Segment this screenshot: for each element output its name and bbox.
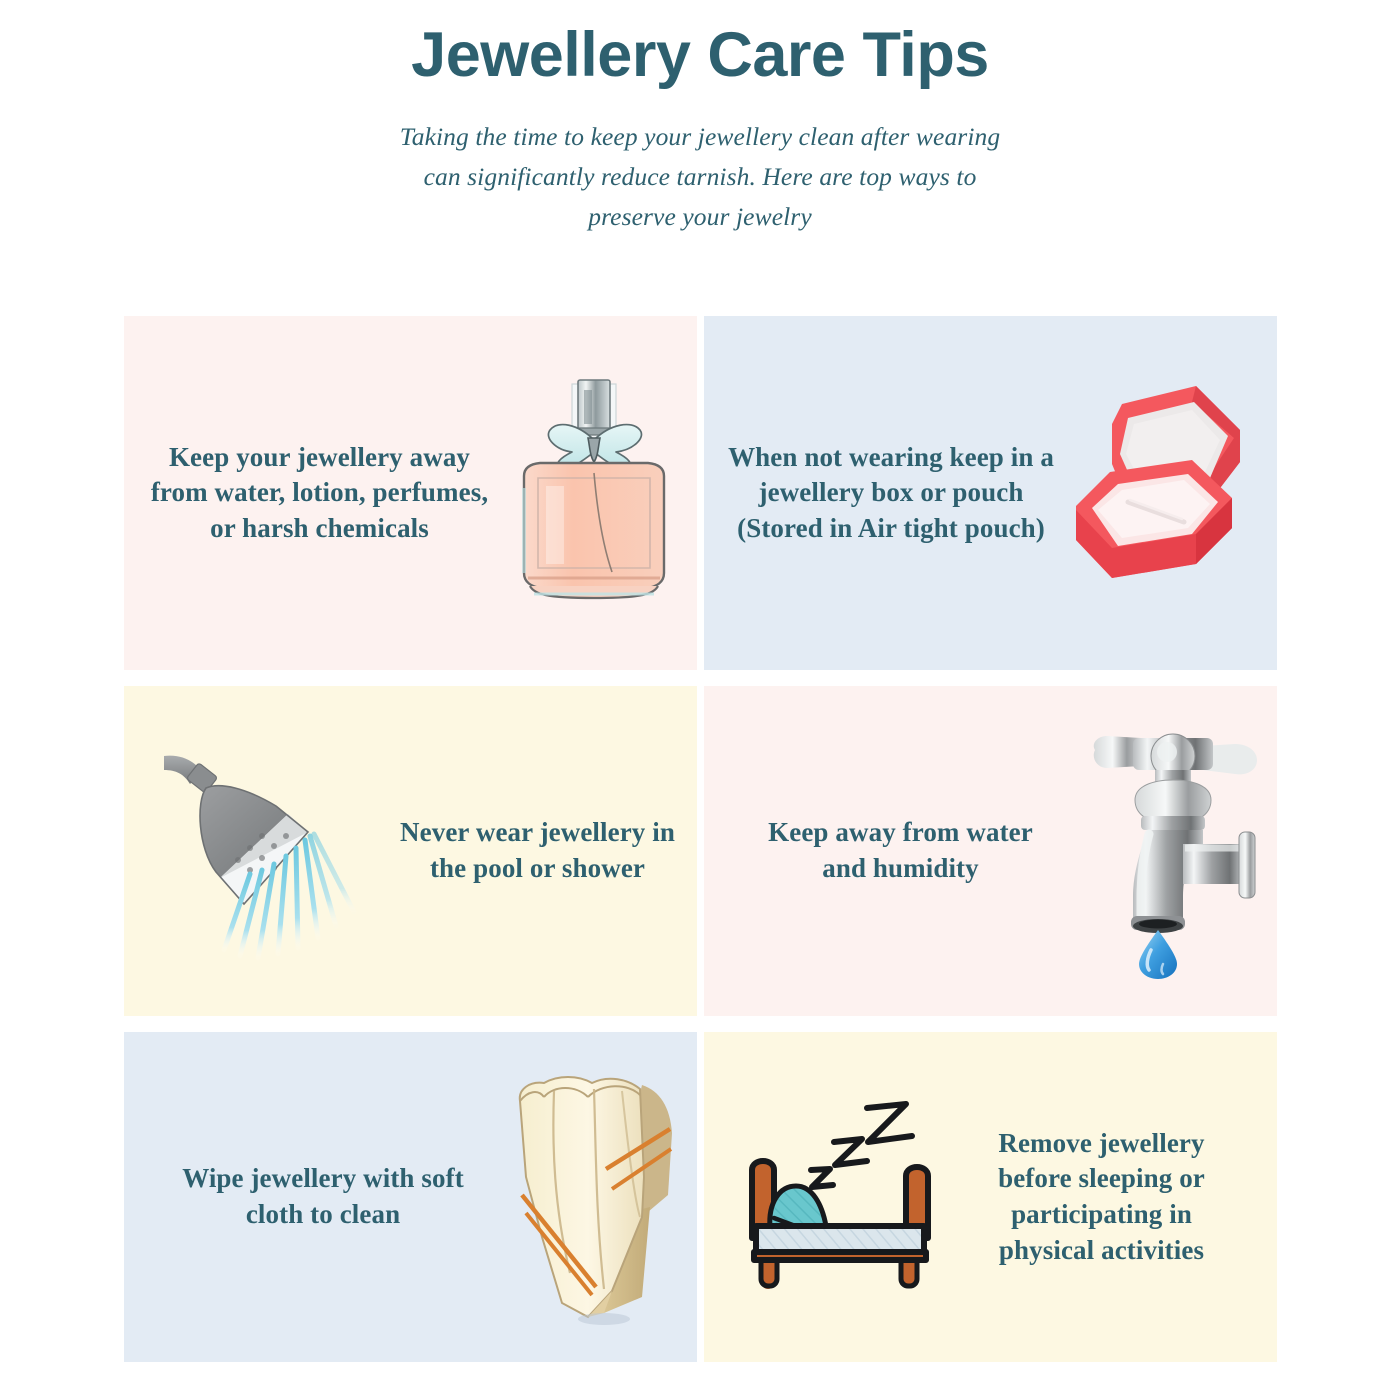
- card-cloth: Wipe jewellery with soft cloth to clean: [124, 1032, 697, 1362]
- faucet-icon: [1067, 726, 1277, 976]
- card-faucet-text: Keep away from water and humidity: [762, 815, 1039, 886]
- card-perfume-text: Keep your jewellery away from water, lot…: [147, 440, 492, 547]
- cleaning-cloth-icon: [492, 1067, 697, 1327]
- ring-box-icon: [1064, 378, 1274, 608]
- shower-head-icon: [158, 736, 388, 966]
- bed-sleep-icon: [734, 1092, 964, 1302]
- page-subtitle: Taking the time to keep your jewellery c…: [380, 117, 1020, 236]
- header: Jewellery Care Tips Taking the time to k…: [0, 0, 1400, 236]
- card-bed-text: Remove jewellery before sleeping or part…: [964, 1126, 1239, 1269]
- card-jewellery-box-text: When not wearing keep in a jewellery box…: [726, 440, 1056, 547]
- card-perfume: Keep your jewellery away from water, lot…: [124, 316, 697, 670]
- card-jewellery-box: When not wearing keep in a jewellery box…: [704, 316, 1277, 670]
- card-shower: Never wear jewellery in the pool or show…: [124, 686, 697, 1016]
- card-shower-text: Never wear jewellery in the pool or show…: [388, 815, 687, 886]
- perfume-bottle-icon: [494, 368, 694, 618]
- card-cloth-text: Wipe jewellery with soft cloth to clean: [174, 1161, 472, 1232]
- infographic-page: Jewellery Care Tips Taking the time to k…: [0, 0, 1400, 1400]
- tips-grid: Keep your jewellery away from water, lot…: [124, 316, 1277, 1362]
- card-bed: Remove jewellery before sleeping or part…: [704, 1032, 1277, 1362]
- card-faucet: Keep away from water and humidity: [704, 686, 1277, 1016]
- page-title: Jewellery Care Tips: [0, 22, 1400, 88]
